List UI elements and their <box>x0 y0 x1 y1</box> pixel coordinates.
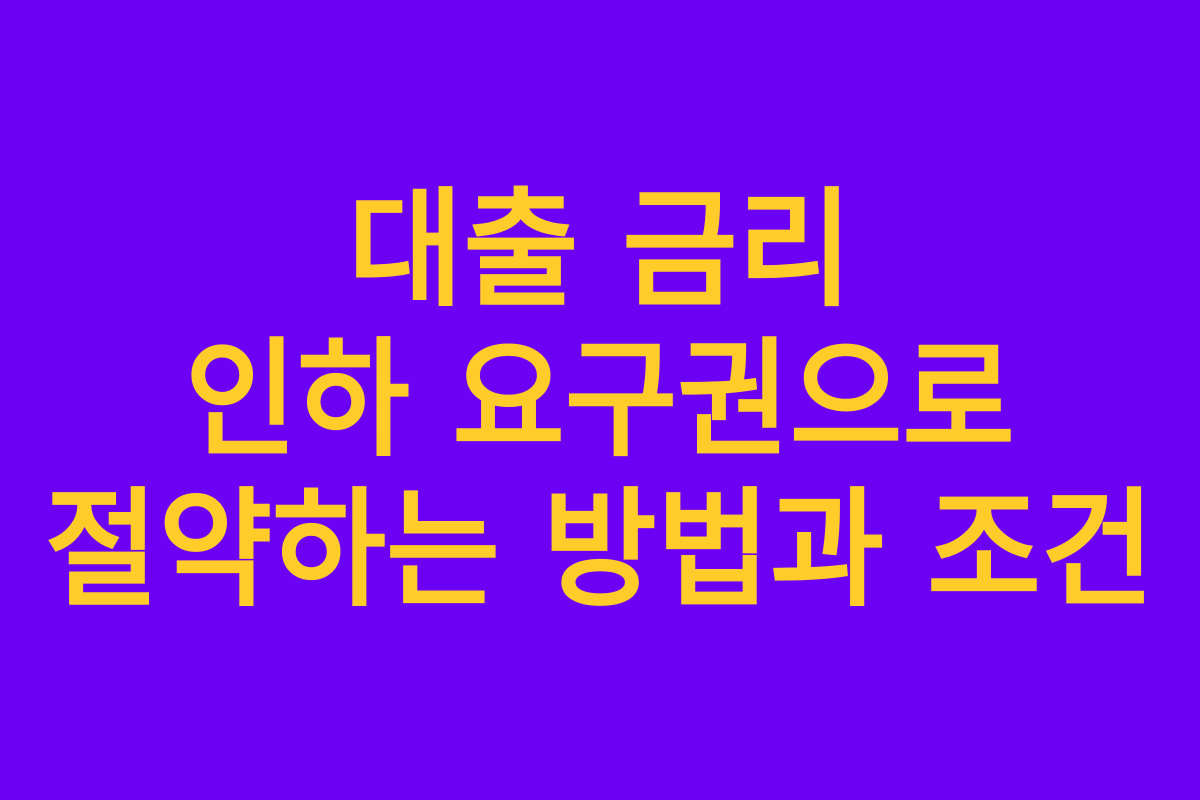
headline-line-1: 대출 금리 <box>348 187 853 315</box>
banner-canvas: 대출 금리 인하 요구권으로 절약하는 방법과 조건 <box>0 0 1200 800</box>
headline-line-2: 인하 요구권으로 <box>185 337 1015 465</box>
headline-line-3: 절약하는 방법과 조건 <box>45 487 1155 615</box>
headline-block: 대출 금리 인하 요구권으로 절약하는 방법과 조건 <box>0 187 1200 615</box>
